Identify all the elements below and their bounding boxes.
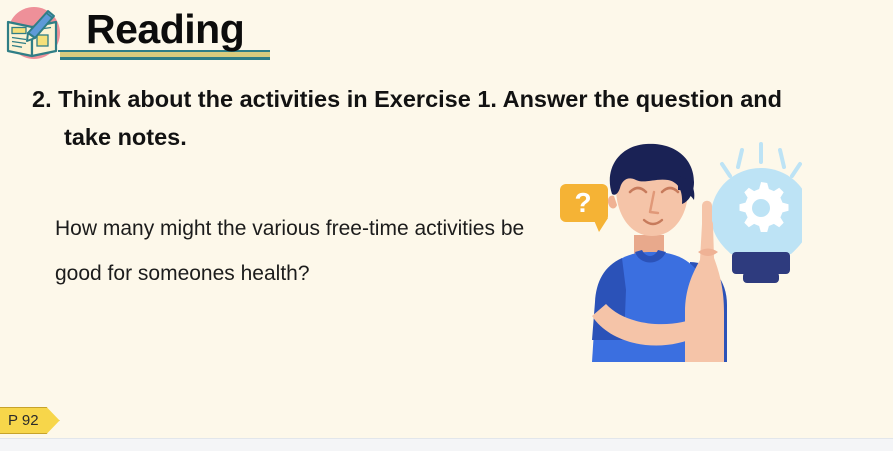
svg-text:?: ?: [574, 187, 591, 218]
bottom-strip: [0, 438, 893, 451]
exercise-question: How many might the various free-time act…: [55, 206, 525, 296]
exercise-prompt: 2. Think about the activities in Exercis…: [32, 80, 844, 156]
question-speech-bubble-icon: ?: [560, 184, 608, 232]
person-figure: [592, 144, 727, 362]
slide-canvas: Reading 2. Think about the activities in…: [0, 0, 893, 451]
exercise-prompt-line-1: 2. Think about the activities in Exercis…: [32, 86, 782, 112]
illustration-svg: ?: [552, 140, 802, 372]
page-number-badge[interactable]: P 92: [0, 407, 60, 434]
exercise-prompt-line-2: take notes.: [32, 118, 844, 156]
rule-bottom-line: [60, 57, 270, 60]
page-title: Reading: [86, 6, 282, 52]
thinking-person-lightbulb-illustration: ?: [552, 140, 802, 372]
lightbulb-icon: [711, 168, 802, 283]
